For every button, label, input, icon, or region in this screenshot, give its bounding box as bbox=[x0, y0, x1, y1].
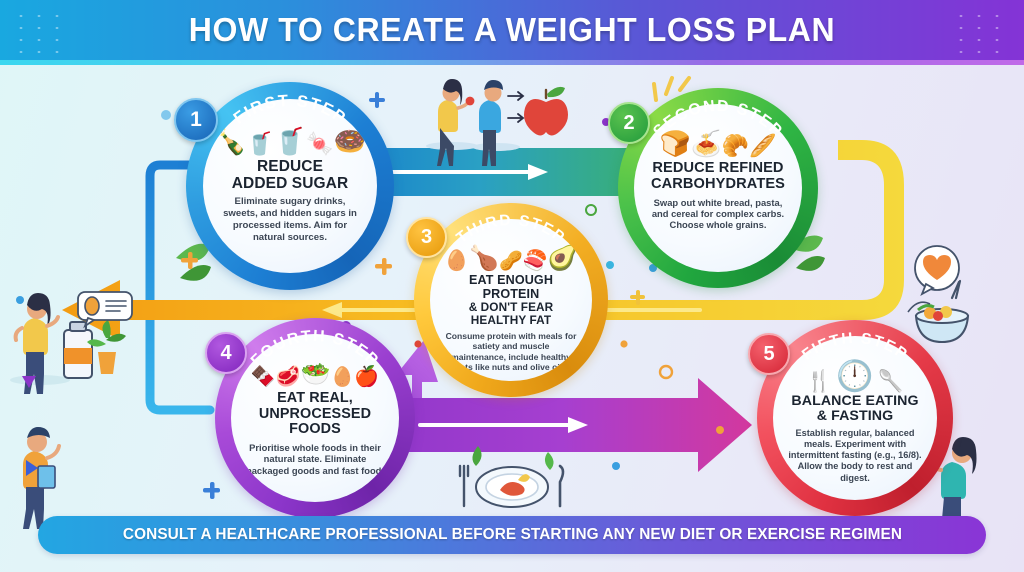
step-heading-line1-5: BALANCE EATING bbox=[791, 394, 918, 409]
speech-bubble-pill-icon bbox=[78, 292, 132, 326]
step-description-5: Establish regular, balanced meals. Exper… bbox=[784, 428, 926, 484]
step-heading-line2-4: UNPROCESSED FOODS bbox=[245, 407, 385, 438]
step-icons-2: 🍞 🍝 🥐 🥖 bbox=[659, 121, 776, 159]
avocado-icon: 🥑 bbox=[548, 244, 578, 273]
step-icons-5: 🍴 🕛 🥄 bbox=[806, 352, 904, 394]
pumpkin-icon: 🍫 bbox=[251, 364, 276, 389]
plus-sign-decor bbox=[369, 92, 385, 108]
footer-banner: CONSULT A HEALTHCARE PROFESSIONAL BEFORE… bbox=[38, 516, 986, 554]
footer-disclaimer-text: CONSULT A HEALTHCARE PROFESSIONAL BEFORE… bbox=[122, 526, 901, 544]
step-heading-line2-5: & FASTING bbox=[791, 409, 918, 424]
candy-icon: 🍬 bbox=[306, 131, 333, 157]
step-heading-line1-3: EAT ENOUGH PROTEIN bbox=[442, 274, 580, 301]
step-heading-2: REDUCE REFINED CARBOHYDRATES bbox=[651, 161, 785, 193]
chicken-breast-icon: 🍗 bbox=[469, 244, 499, 273]
man-figure bbox=[472, 80, 520, 166]
pasta-bowl-icon: 🍝 bbox=[691, 130, 722, 159]
steak-icon: 🥩 bbox=[276, 364, 301, 389]
step-icons-4: 🍫 🥩 🥗 🥚 🍎 bbox=[251, 351, 379, 389]
plus-sign-decor bbox=[630, 290, 645, 305]
step-number-badge-5: 5 bbox=[748, 333, 790, 375]
step-content-1: 🍾 🥤 🥤 🍬 🍩 REDUCE ADDED SUGAR Eliminate s… bbox=[203, 99, 377, 273]
man-waving-figure bbox=[23, 427, 59, 529]
woman-with-apple-figure bbox=[426, 79, 478, 166]
step-heading-line2-2: CARBOHYDRATES bbox=[651, 177, 785, 193]
step-card-3[interactable]: 🥚 🍗 🥜 🍣 🥑 EAT ENOUGH PROTEIN & DON'T FEA… bbox=[414, 203, 608, 397]
spoon-icon: 🥄 bbox=[878, 370, 904, 394]
egg-icon: 🥚 bbox=[331, 365, 355, 389]
step-card-5[interactable]: 🍴 🕛 🥄 BALANCE EATING & FASTING Establish… bbox=[757, 320, 953, 516]
step-description-2: Swap out white bread, pasta, and cereal … bbox=[648, 197, 788, 231]
step-heading-1: REDUCE ADDED SUGAR bbox=[232, 159, 349, 192]
bread-roll-icon: 🥖 bbox=[749, 133, 776, 159]
step-heading-3: EAT ENOUGH PROTEIN & DON'T FEAR HEALTHY … bbox=[442, 274, 580, 327]
step-content-3: 🥚 🍗 🥜 🍣 🥑 EAT ENOUGH PROTEIN & DON'T FEA… bbox=[430, 219, 592, 381]
step-heading-line2-3: & DON'T FEAR HEALTHY FAT bbox=[442, 301, 580, 326]
heart-speech-bubble-icon bbox=[915, 246, 959, 294]
step-icons-1: 🍾 🥤 🥤 🍬 🍩 bbox=[214, 117, 366, 157]
step-heading-line1-1: REDUCE bbox=[232, 159, 349, 176]
step-card-4[interactable]: 🍫 🥩 🥗 🥚 🍎 EAT REAL, UNPROCESSED FOODS Pr… bbox=[215, 318, 415, 518]
step-content-2: 🍞 🍝 🥐 🥖 REDUCE REFINED CARBOHYDRATES Swa… bbox=[634, 104, 802, 272]
step-heading-line1-2: REDUCE REFINED bbox=[651, 161, 785, 177]
step-heading-5: BALANCE EATING & FASTING bbox=[791, 394, 918, 425]
step-icons-3: 🥚 🍗 🥜 🍣 🥑 bbox=[444, 233, 577, 273]
vegetable-basket-icon: 🥗 bbox=[301, 360, 331, 389]
step-number-badge-1: 1 bbox=[174, 98, 218, 142]
apple-icon: 🍎 bbox=[354, 364, 379, 389]
soda-can-icon: 🥤 bbox=[246, 131, 273, 157]
step-number-badge-4: 4 bbox=[205, 332, 247, 374]
nuts-icon: 🥜 bbox=[499, 249, 523, 273]
plus-sign-decor bbox=[375, 258, 392, 275]
supplement-bottle-icon bbox=[64, 322, 92, 378]
step-number-badge-2: 2 bbox=[608, 102, 650, 144]
egg-icon: 🥚 bbox=[444, 248, 469, 273]
step-content-5: 🍴 🕛 🥄 BALANCE EATING & FASTING Establish… bbox=[773, 336, 937, 500]
step-heading-line1-4: EAT REAL, bbox=[245, 391, 385, 407]
step-card-2[interactable]: 🍞 🍝 🥐 🥖 REDUCE REFINED CARBOHYDRATES Swa… bbox=[618, 88, 818, 288]
fork-icon: 🍴 bbox=[806, 370, 832, 394]
clock-icon: 🕛 bbox=[836, 359, 873, 394]
croissant-icon: 🥐 bbox=[722, 133, 749, 159]
step-heading-4: EAT REAL, UNPROCESSED FOODS bbox=[245, 391, 385, 438]
woman-with-supplement-figure bbox=[10, 293, 70, 394]
dinner-plate-icon bbox=[460, 446, 563, 507]
apple-icon bbox=[508, 87, 568, 136]
step-card-1[interactable]: 🍾 🥤 🥤 🍬 🍩 REDUCE ADDED SUGAR Eliminate s… bbox=[186, 82, 394, 290]
bread-slice-icon: 🍞 bbox=[659, 130, 690, 159]
step-description-1: Eliminate sugary drinks, sweets, and hid… bbox=[217, 196, 363, 243]
step-content-4: 🍫 🥩 🥗 🥚 🍎 EAT REAL, UNPROCESSED FOODS Pr… bbox=[231, 334, 399, 502]
plus-sign-decor bbox=[203, 482, 220, 499]
step-description-3: Consume protein with meals for satiety a… bbox=[445, 331, 577, 373]
slushie-cup-icon: 🥤 bbox=[274, 126, 306, 157]
step-number-badge-3: 3 bbox=[406, 217, 447, 258]
step-description-4: Prioritise whole foods in their natural … bbox=[245, 442, 385, 476]
salmon-icon: 🍣 bbox=[523, 248, 548, 273]
step-heading-line2-1: ADDED SUGAR bbox=[232, 176, 349, 193]
